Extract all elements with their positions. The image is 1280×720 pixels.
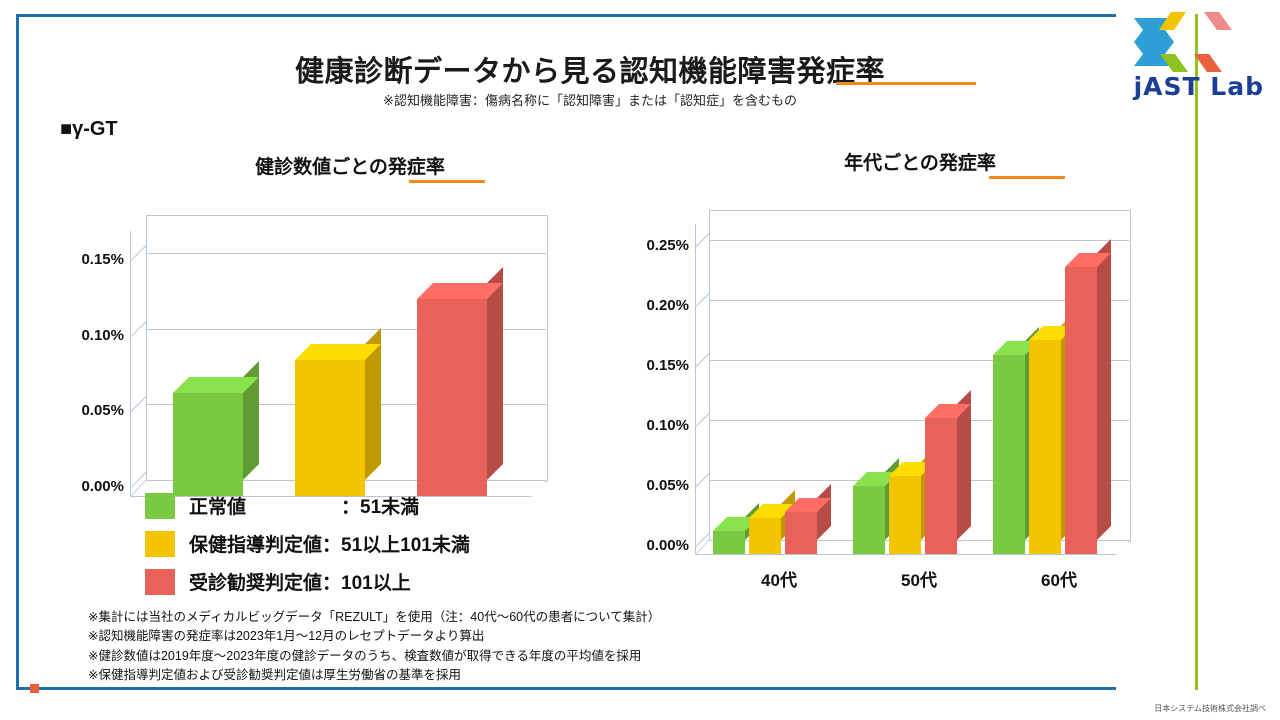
gridline — [146, 253, 546, 254]
bar-正常-40代 — [713, 531, 745, 554]
y-axis-tick-label: 0.10% — [52, 327, 124, 344]
legend-label-recommend: 受診勧奨判定値：101以上 — [189, 568, 411, 595]
legend-label-guidance: 保健指導判定値：51以上101未満 — [189, 530, 470, 557]
frame-right-line — [1195, 14, 1198, 690]
bar-front-face — [713, 531, 745, 554]
note-line: ※集計には当社のメディカルビッグデータ「REZULT」を使用（注：40代〜60代… — [88, 608, 660, 627]
bar-保健-all — [295, 360, 365, 496]
note-line: ※認知機能障害の発症率は2023年1月〜12月のレセプトデータより算出 — [88, 627, 660, 646]
bar-受診-50代 — [925, 418, 957, 554]
axis-depth-tick — [695, 293, 710, 308]
notes-block: ※集計には当社のメディカルビッグデータ「REZULT」を使用（注：40代〜60代… — [88, 608, 660, 686]
bar-保健-50代 — [889, 476, 921, 554]
y-axis-tick-label: 0.00% — [52, 478, 124, 495]
axis-depth-tick — [695, 353, 710, 368]
y-axis-line — [695, 224, 696, 554]
frame-top-line — [16, 14, 1116, 17]
bar-front-face — [889, 476, 921, 554]
legend-swatch-recommend — [145, 569, 175, 595]
note-line: ※健診数値は2019年度〜2023年度の健診データのうち、検査数値が取得できる年… — [88, 647, 660, 666]
legend-item-recommend: 受診勧奨判定値：101以上 — [145, 568, 411, 595]
legend-swatch-guidance — [145, 531, 175, 557]
bar-front-face — [785, 512, 817, 554]
y-axis-line — [130, 231, 131, 496]
axis-depth-tick — [130, 396, 147, 413]
axis-depth-tick — [695, 413, 710, 428]
footer-credit: 日本システム技術株式会社調べ — [1154, 703, 1266, 714]
chart-by-age: 0.00%0.05%0.10%0.15%0.20%0.25%40代50代60代 — [620, 200, 1180, 580]
axis-depth-tick — [695, 473, 710, 488]
y-axis-tick-label: 0.15% — [52, 251, 124, 268]
bar-front-face — [853, 486, 885, 554]
bar-side-face — [487, 267, 503, 480]
y-axis-tick-label: 0.20% — [617, 297, 689, 314]
y-axis-tick-label: 0.05% — [52, 402, 124, 419]
y-axis-tick-label: 0.05% — [617, 477, 689, 494]
legend-swatch-normal — [145, 493, 175, 519]
bar-正常-all — [173, 393, 243, 496]
bar-front-face — [993, 355, 1025, 554]
note-line: ※保健指導判定値および受診勧奨判定値は厚生労働省の基準を採用 — [88, 666, 660, 685]
axis-depth-tick — [130, 320, 147, 337]
axis-depth-tick — [695, 233, 710, 248]
legend-item-normal: 正常値 ：51未満 — [145, 492, 419, 519]
chart-title-by-value: 健診数値ごとの発症率 — [150, 152, 550, 179]
bar-front-face — [417, 299, 487, 496]
bar-front-face — [173, 393, 243, 496]
bar-front-face — [749, 518, 781, 554]
chart-title-underline-left — [409, 180, 485, 183]
x-axis-category-label: 50代 — [849, 566, 989, 591]
bar-受診-40代 — [785, 512, 817, 554]
bar-side-face — [1097, 239, 1111, 540]
bar-受診-60代 — [1065, 267, 1097, 554]
legend-label-normal: 正常値 ：51未満 — [189, 492, 419, 519]
page-title-underline — [836, 82, 976, 85]
x-axis-category-label: 60代 — [989, 566, 1129, 591]
y-axis-tick-label: 0.00% — [617, 537, 689, 554]
frame-bottom-line — [16, 687, 1116, 690]
bar-受診-all — [417, 299, 487, 496]
chart-by-value: 0.00%0.05%0.10%0.15% — [60, 200, 580, 500]
bar-保健-40代 — [749, 518, 781, 554]
y-axis-tick-label: 0.25% — [617, 237, 689, 254]
bar-保健-60代 — [1029, 340, 1061, 554]
series-label: ■γ-GT — [60, 118, 118, 141]
bar-front-face — [1029, 340, 1061, 554]
x-axis-category-label: 40代 — [709, 566, 849, 591]
legend-item-guidance: 保健指導判定値：51以上101未満 — [145, 530, 470, 557]
bar-正常-50代 — [853, 486, 885, 554]
gridline — [709, 240, 1129, 241]
frame-left-line — [16, 14, 19, 690]
page-subtitle: ※認知機能障害：傷病名称に「認知障害」または「認知症」を含むもの — [0, 90, 1180, 109]
chart-title-by-age: 年代ごとの発症率 — [690, 148, 1150, 175]
corner-dot — [30, 684, 39, 693]
y-axis-tick-label: 0.15% — [617, 357, 689, 374]
bar-front-face — [295, 360, 365, 496]
bar-front-face — [925, 418, 957, 554]
page-title: 健康診断データから見る認知機能障害発症率 — [0, 48, 1180, 90]
y-axis-tick-label: 0.10% — [617, 417, 689, 434]
bar-front-face — [1065, 267, 1097, 554]
axis-depth-tick — [130, 245, 147, 262]
chart-title-underline-right — [989, 176, 1065, 179]
bar-正常-60代 — [993, 355, 1025, 554]
